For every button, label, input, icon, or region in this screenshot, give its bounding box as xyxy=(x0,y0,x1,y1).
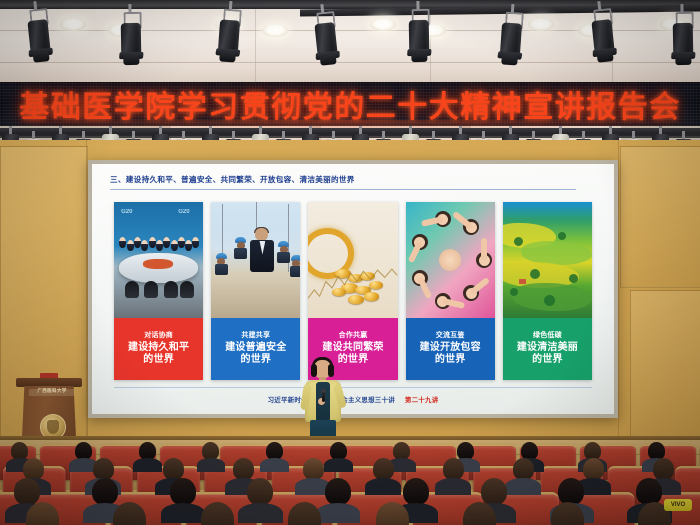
lecture-hall-photo: 基础医学院学习贯彻党的二十大精神宣讲报告会 三、建设持久和平、普遍安全、共同繁荣… xyxy=(0,0,700,525)
audience-member xyxy=(653,458,674,480)
audience-shoulders xyxy=(238,503,282,524)
audience-member xyxy=(92,478,118,505)
audience-member xyxy=(558,478,584,505)
panel-headline-line2: 的世界 xyxy=(532,354,563,366)
panel-caption: 绿色低碳建设清洁美丽的世界 xyxy=(503,318,592,380)
panel-image-gold-coins-market-chart xyxy=(308,202,397,318)
stage-spotlight xyxy=(120,12,143,66)
audience-member xyxy=(403,478,429,505)
audience-shoulders xyxy=(133,458,162,472)
slide-panel-group: G20G20对话协商建设持久和平的世界共建共享建设普遍安全的世界合作共赢建设共同… xyxy=(114,202,592,380)
panel-caption: 对话协商建设持久和平的世界 xyxy=(114,318,203,380)
stage-spotlight xyxy=(408,9,431,63)
panel-subtitle: 共建共享 xyxy=(241,332,270,340)
panel-headline: 建设清洁美丽 xyxy=(517,342,578,354)
audience-member xyxy=(247,478,273,505)
panel-image-children-hands-circle xyxy=(406,202,495,318)
camera-watermark: VIVO xyxy=(664,499,692,511)
audience-member xyxy=(23,458,44,480)
panel-subtitle: 绿色低碳 xyxy=(533,332,562,340)
slide-panel: G20G20对话协商建设持久和平的世界 xyxy=(114,202,203,380)
panel-image-un-peacekeepers-blue-helmets xyxy=(211,202,300,318)
audience-member xyxy=(14,478,40,505)
podium-institution-name: 广西医科大学 xyxy=(29,388,75,394)
panel-headline-line2: 的世界 xyxy=(435,354,466,366)
audience-shoulders xyxy=(316,503,360,524)
projection-screen: 三、建设持久和平、普遍安全、共同繁荣、开放包容、清洁美丽的世界 G20G20对话… xyxy=(92,164,614,414)
footer-chapter-badge: 第二十九讲 xyxy=(405,394,439,404)
audience-member xyxy=(325,478,351,505)
audience-member xyxy=(513,458,534,480)
panel-headline: 建设持久和平 xyxy=(128,342,189,354)
audience-member xyxy=(443,458,464,480)
audience-shoulders xyxy=(197,458,226,472)
panel-caption: 共建共享建设普遍安全的世界 xyxy=(211,318,300,380)
audience-member xyxy=(170,478,196,505)
audience-member xyxy=(636,478,662,505)
panel-image-green-farmland-aerial xyxy=(503,202,592,318)
slide-footer: 习近平新时代中国特色社会主义思想三十讲 第二十九讲 xyxy=(114,394,592,404)
panel-subtitle: 交流互鉴 xyxy=(436,332,465,340)
audience-shoulders xyxy=(161,503,205,524)
audience-member xyxy=(583,458,604,480)
slide-panel: 合作共赢建设共同繁荣的世界 xyxy=(308,202,397,380)
audience-shoulders xyxy=(260,458,289,472)
panel-headline-line2: 的世界 xyxy=(143,354,174,366)
title-divider xyxy=(110,189,576,190)
audience-member xyxy=(163,458,184,480)
audience-shoulders xyxy=(365,478,401,495)
audience-shoulders xyxy=(324,458,353,472)
ceiling-downlight xyxy=(528,18,554,31)
audience-shoulders xyxy=(435,478,471,495)
panel-subtitle: 合作共赢 xyxy=(339,332,368,340)
ceiling-downlight xyxy=(60,18,86,31)
projection-screen-frame: 三、建设持久和平、普遍安全、共同繁荣、开放包容、清洁美丽的世界 G20G20对话… xyxy=(88,160,618,418)
panel-headline: 建设普遍安全 xyxy=(225,342,286,354)
stage-spotlight xyxy=(672,12,695,66)
audience-shoulders xyxy=(505,478,541,495)
slide-title: 三、建设持久和平、普遍安全、共同繁荣、开放包容、清洁美丽的世界 xyxy=(110,174,355,185)
audience-member xyxy=(481,478,507,505)
slide-panel: 绿色低碳建设清洁美丽的世界 xyxy=(503,202,592,380)
audience-area: VIVO xyxy=(0,440,700,525)
slide-panel: 共建共享建设普遍安全的世界 xyxy=(211,202,300,380)
slide-panel: 交流互鉴建设开放包容的世界 xyxy=(406,202,495,380)
microphone xyxy=(322,392,325,402)
audience-member xyxy=(233,458,254,480)
stage-spotlight xyxy=(498,11,524,66)
ceiling-downlight xyxy=(370,18,396,31)
panel-image-g20-roundtable-summit: G20G20 xyxy=(114,202,203,318)
ceiling-downlight xyxy=(262,24,288,37)
panel-subtitle: 对话协商 xyxy=(144,332,173,340)
stage-spotlight xyxy=(216,8,242,63)
audience-member xyxy=(93,458,114,480)
panel-headline: 建设开放包容 xyxy=(420,342,481,354)
panel-caption: 交流互鉴建设开放包容的世界 xyxy=(406,318,495,380)
audience-member xyxy=(373,458,394,480)
audience-member xyxy=(303,458,324,480)
panel-headline-line2: 的世界 xyxy=(241,354,272,366)
panel-headline: 建设共同繁荣 xyxy=(322,342,383,354)
